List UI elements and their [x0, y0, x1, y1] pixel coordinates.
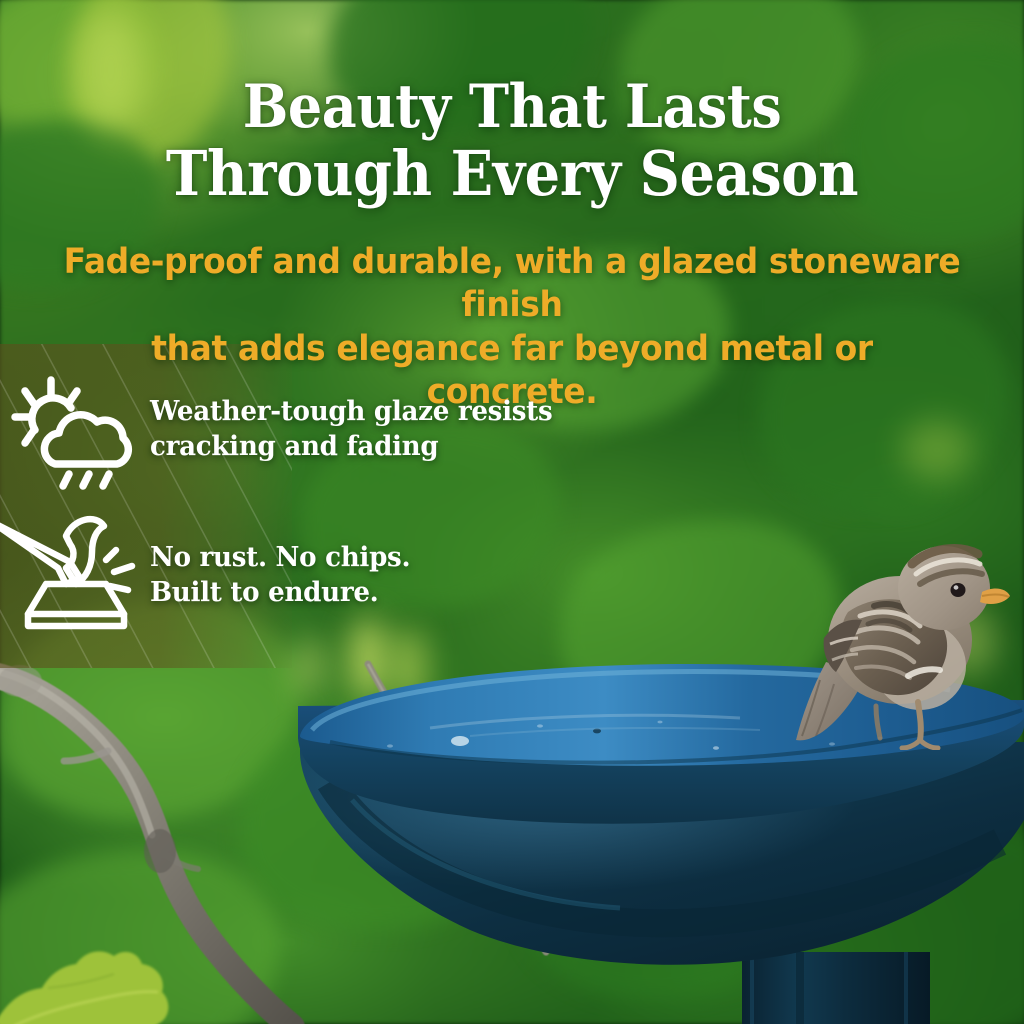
feature-label-weather: Weather-tough glaze resists cracking and…	[150, 394, 552, 463]
subheadline-line-1: Fade-proof and durable, with a glazed st…	[64, 242, 961, 325]
maple-leaf	[0, 930, 190, 1024]
product-marketing-image: Beauty That Lasts Through Every Season F…	[0, 0, 1024, 1024]
sun-cloud-rain-icon	[5, 372, 145, 492]
feature-icon-wrap	[0, 372, 150, 492]
page-title: Beauty That Lasts Through Every Season	[51, 74, 973, 208]
hammer-anvil-icon	[0, 512, 150, 632]
foliage-highlight	[902, 420, 972, 480]
sparrow-bird	[790, 520, 1010, 750]
feature-item-weather: Weather-tough glaze resists cracking and…	[0, 372, 574, 492]
feature-icon-wrap	[0, 512, 150, 632]
tree-twig	[360, 660, 580, 960]
headline-line-2: Through Every Season	[51, 140, 973, 208]
feature-item-durability: No rust. No chips. Built to endure.	[0, 512, 424, 632]
headline-line-1: Beauty That Lasts	[243, 72, 782, 142]
feature-label-durability: No rust. No chips. Built to endure.	[150, 540, 410, 609]
